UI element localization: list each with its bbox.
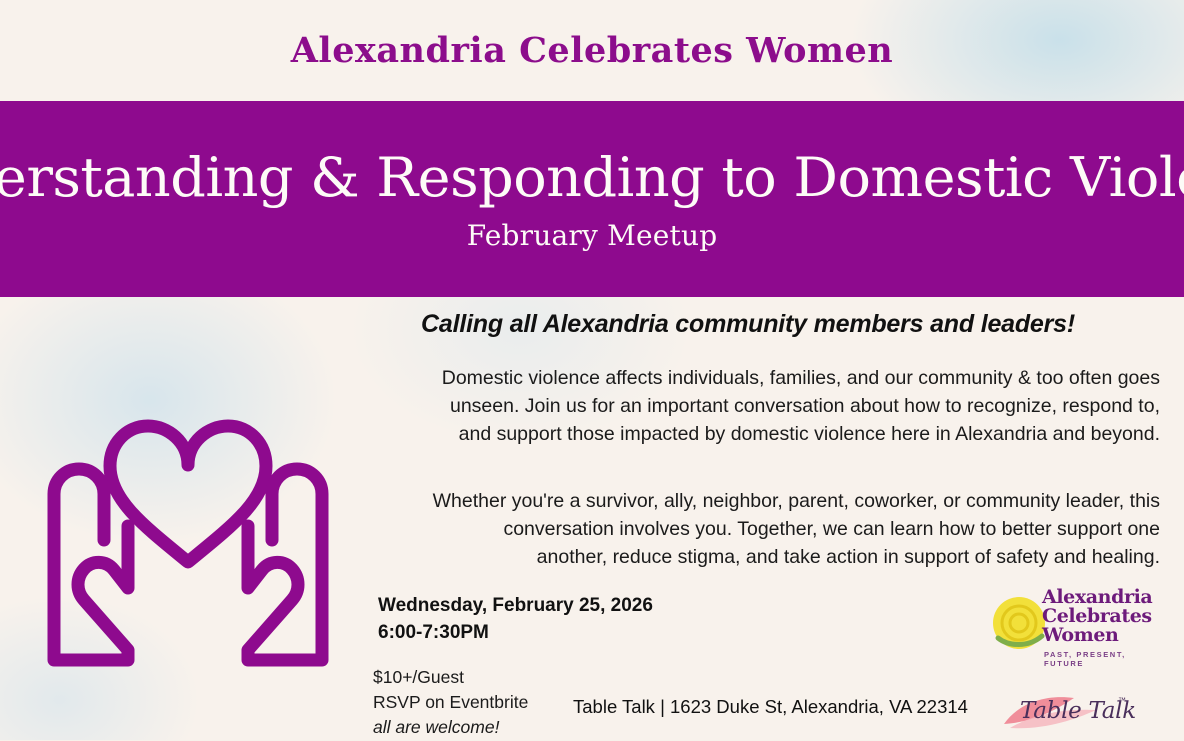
welcome-note: all are welcome! — [373, 715, 528, 740]
organization-name: Alexandria Celebrates Women — [291, 30, 893, 71]
event-datetime: Wednesday, February 25, 2026 6:00-7:30PM — [378, 592, 653, 646]
acw-wordmark: Alexandria Celebrates Women — [1042, 588, 1148, 645]
venue-address: Table Talk | 1623 Duke St, Alexandria, V… — [573, 696, 968, 718]
event-flyer: Alexandria Celebrates Women Understandin… — [0, 0, 1184, 740]
ticket-info: $10+/Guest RSVP on Eventbrite all are we… — [373, 665, 528, 740]
title-band: Understanding & Responding to Domestic V… — [0, 101, 1184, 297]
event-subtitle: February Meetup — [467, 219, 718, 252]
body-paragraph-2: Whether you're a survivor, ally, neighbo… — [430, 487, 1160, 571]
call-to-action: Calling all Alexandria community members… — [330, 310, 1166, 339]
acw-logo: Alexandria Celebrates Women PAST, PRESEN… — [988, 588, 1148, 674]
event-date: Wednesday, February 25, 2026 — [378, 592, 653, 619]
acw-line-3: Women — [1042, 626, 1148, 645]
table-talk-trademark: ™ — [1118, 696, 1126, 705]
event-time: 6:00-7:30PM — [378, 619, 653, 646]
body-paragraph-1: Domestic violence affects individuals, f… — [430, 364, 1160, 448]
organization-title: Alexandria Celebrates Women — [0, 0, 1184, 101]
rose-icon — [988, 592, 1050, 654]
acw-tagline: PAST, PRESENT, FUTURE — [1044, 650, 1148, 668]
hands-holding-heart-icon — [18, 330, 358, 670]
event-title: Understanding & Responding to Domestic V… — [0, 146, 1184, 209]
rsvp-note: RSVP on Eventbrite — [373, 690, 528, 715]
ticket-price: $10+/Guest — [373, 665, 528, 690]
table-talk-logo: Table Talk ™ — [1000, 688, 1150, 736]
